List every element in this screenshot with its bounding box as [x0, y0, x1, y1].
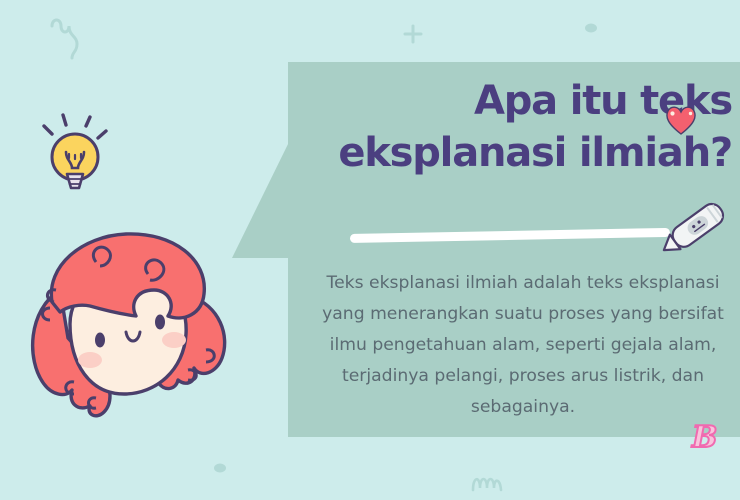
heart-icon	[664, 104, 698, 141]
plus-icon	[403, 24, 423, 44]
body-line-4: terjadinya pelangi, proses arus listrik,…	[288, 361, 740, 392]
squiggle-icon	[48, 14, 88, 62]
girl-avatar-illustration	[8, 218, 244, 459]
dot-icon	[584, 22, 598, 34]
brand-logo: B	[692, 420, 717, 455]
body-paragraph: Teks eksplanasi ilmiah adalah teks ekspl…	[288, 268, 740, 423]
body-line-2: yang menerangkan suatu proses yang bersi…	[288, 299, 740, 330]
body-line-1: Teks eksplanasi ilmiah adalah teks ekspl…	[288, 268, 740, 299]
pencil-icon	[655, 194, 737, 267]
body-line-5: sebagainya.	[288, 392, 740, 423]
lightbulb-icon	[36, 112, 112, 205]
body-line-3: ilmu pengetahuan alam, seperti gejala al…	[288, 330, 740, 361]
dot-icon	[213, 462, 227, 474]
slide-canvas: Apa itu teks eksplanasi ilmiah?	[0, 0, 740, 500]
wave-squiggle-icon	[470, 470, 506, 494]
